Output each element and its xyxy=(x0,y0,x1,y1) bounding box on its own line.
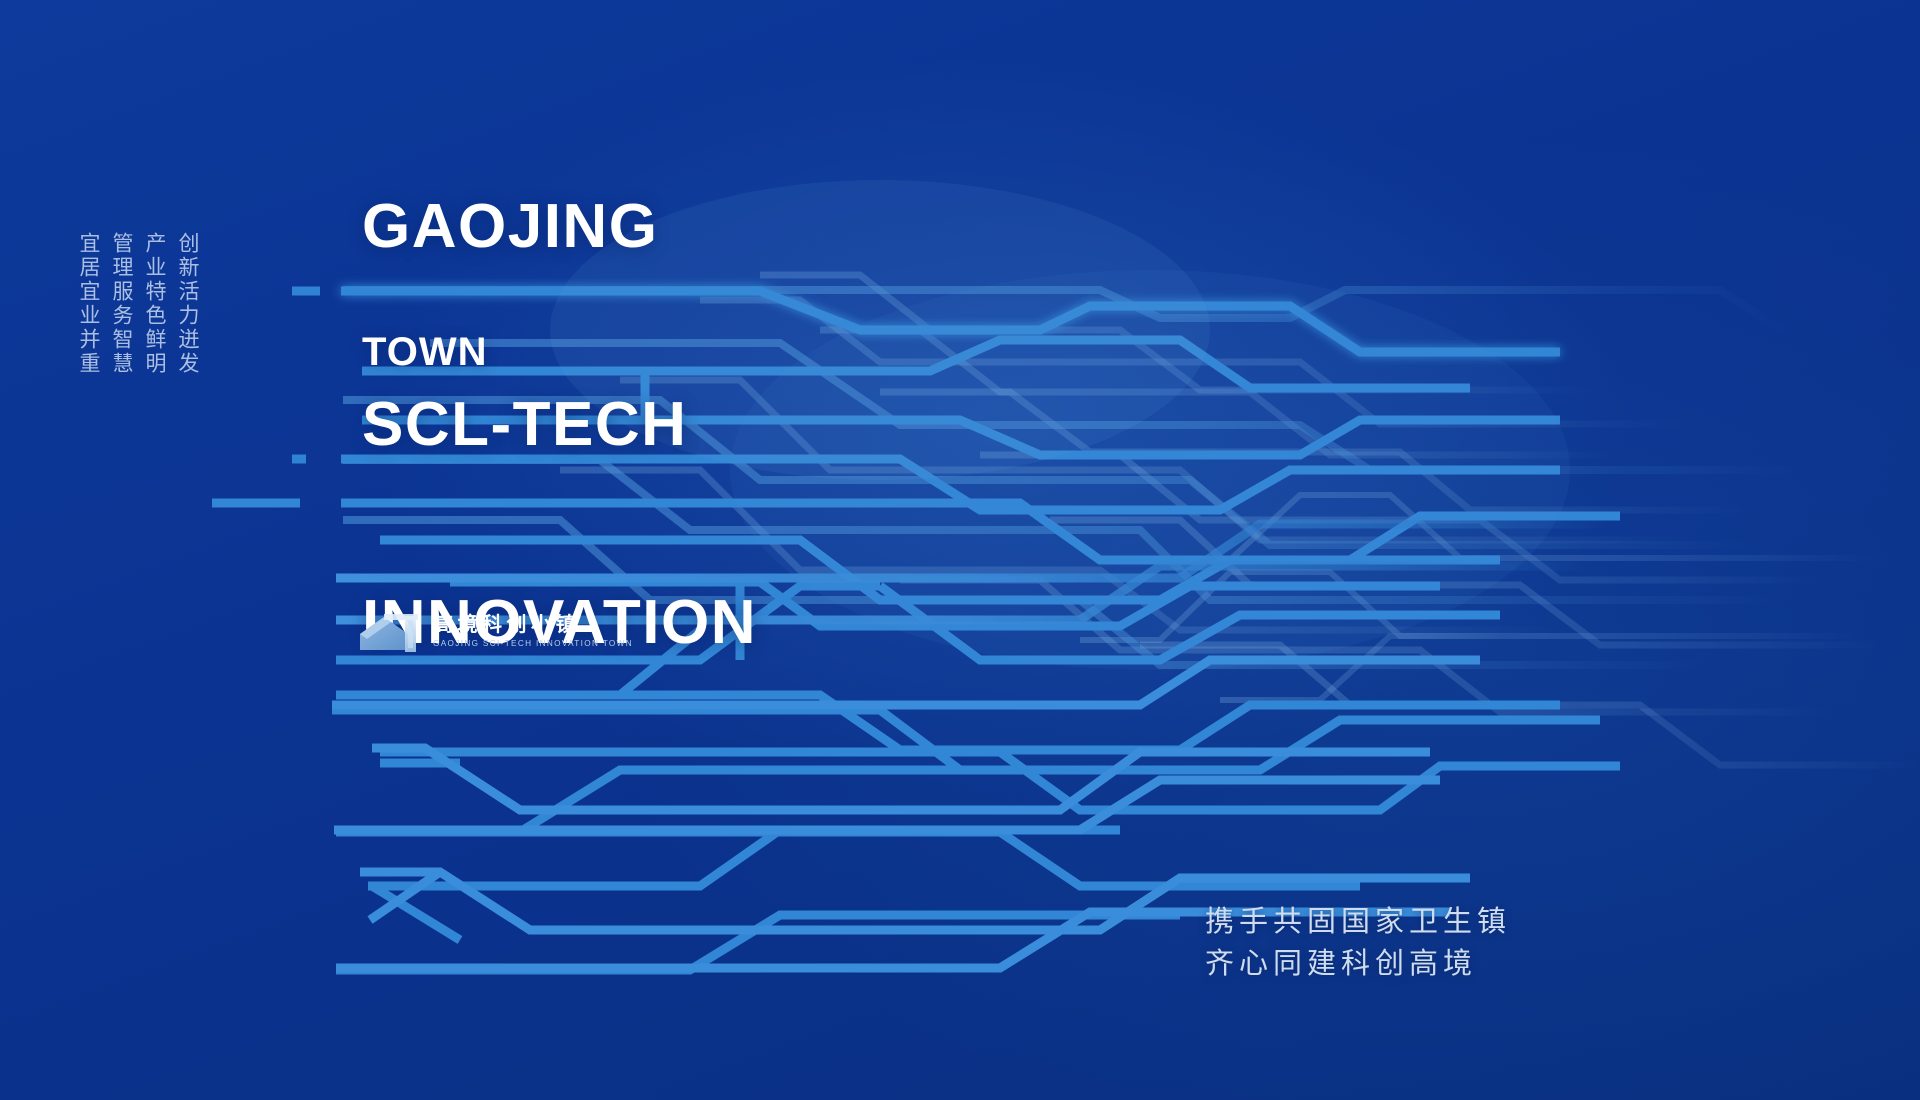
headline-line-2: SCL-TECH xyxy=(362,392,757,458)
bottom-slogan-line-1: 携手共固国家卫生镇 xyxy=(1205,900,1511,942)
circuit-glow-overlay xyxy=(0,0,1920,1100)
vertical-slogan-column-1: 创新活力迸发 xyxy=(177,232,199,376)
brand-name-cn: 高境科创小镇 xyxy=(433,613,633,635)
brand-logo-text: 高境科创小镇 GAOJING SCI-TECH INNOVATION TOWN xyxy=(433,613,633,650)
vertical-slogan-column-3: 管理服务智慧 xyxy=(111,232,133,376)
headline-line-1: GAOJING xyxy=(362,194,757,260)
brand-name-en: GAOJING SCI-TECH INNOVATION TOWN xyxy=(433,638,633,650)
headline: GAOJING SCL-TECH INNOVATION xyxy=(362,62,757,788)
vertical-slogan-column-2: 产业特色鲜明 xyxy=(144,232,166,376)
headline-line-4: TOWN xyxy=(362,330,487,375)
vertical-slogan-column-4: 宜居宜业并重 xyxy=(78,232,100,376)
brand-logo: 高境科创小镇 GAOJING SCI-TECH INNOVATION TOWN xyxy=(358,608,633,654)
poster-canvas: GAOJING SCL-TECH INNOVATION TOWN 创新活力迸发 … xyxy=(0,0,1920,1100)
bottom-slogan: 携手共固国家卫生镇 齐心同建科创高境 xyxy=(1205,900,1511,984)
house-building-icon xyxy=(358,608,424,654)
vertical-slogan: 创新活力迸发 产业特色鲜明 管理服务智慧 宜居宜业并重 xyxy=(78,232,199,376)
bottom-slogan-line-2: 齐心同建科创高境 xyxy=(1205,942,1511,984)
circuit-line-artwork xyxy=(0,0,1920,1100)
